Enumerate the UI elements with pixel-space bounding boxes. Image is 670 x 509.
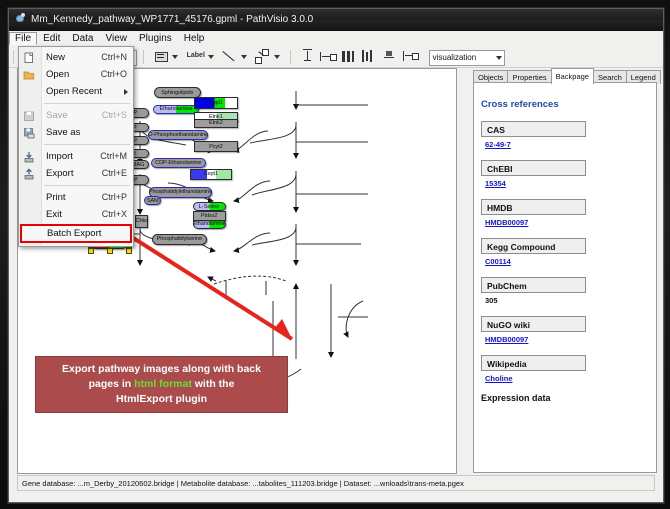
- file-menu-item-open[interactable]: OpenCtrl+O: [19, 66, 133, 83]
- align-left-tool-icon[interactable]: [320, 49, 335, 64]
- line-dropdown-icon[interactable]: [241, 55, 247, 59]
- chevron-down-icon: [496, 56, 502, 60]
- file-menu-item-label: New: [46, 52, 65, 63]
- xref-value-hmdb[interactable]: HMDB00097: [485, 218, 656, 227]
- xref-source-pubchem: PubChem: [481, 277, 586, 293]
- save-icon: [23, 110, 35, 122]
- status-bar: Gene database: ...m_Derby_20120602.bridg…: [17, 475, 655, 491]
- gene-label: Pcyt2: [209, 144, 223, 150]
- file-menu-item-shortcut: Ctrl+P: [102, 189, 127, 206]
- metabolite-node[interactable]: Ethanolamine: [153, 105, 199, 115]
- file-menu-dropdown[interactable]: NewCtrl+NOpenCtrl+OOpen RecentSaveCtrl+S…: [18, 46, 134, 247]
- folder-icon: [23, 69, 35, 81]
- new-file-icon: [23, 52, 35, 64]
- file-menu-item-label: Open Recent: [46, 86, 102, 97]
- backpage-panel: Cross references CAS62-49-7ChEBI15354HMD…: [473, 82, 657, 473]
- file-menu-item-label: Exit: [46, 209, 62, 220]
- metabolite-node[interactable]: CDP-Ethanolamine: [151, 158, 206, 168]
- import-icon: [23, 151, 35, 163]
- callout-line-3: HtmlExport plugin: [116, 393, 207, 405]
- file-menu-item-import[interactable]: ImportCtrl+M: [19, 148, 133, 165]
- menu-file[interactable]: File: [9, 32, 37, 45]
- metabolite-label: Phosphatidylserine: [157, 236, 202, 242]
- visualization-value: visualization: [433, 53, 477, 62]
- cross-reference-list: CAS62-49-7ChEBI15354HMDBHMDB00097Kegg Co…: [474, 121, 656, 383]
- xref-value-cas[interactable]: 62-49-7: [485, 140, 656, 149]
- panel-tab-bar: ObjectsPropertiesBackpageSearchLegend: [473, 68, 655, 83]
- file-menu-item-label: Batch Export: [47, 228, 101, 239]
- gene-label: Cept1: [204, 171, 218, 177]
- file-menu-item-label: Print: [46, 192, 66, 203]
- menu-view[interactable]: View: [99, 32, 133, 45]
- menu-plugins[interactable]: Plugins: [133, 32, 178, 45]
- menu-separator: [44, 144, 130, 145]
- tab-backpage[interactable]: Backpage: [551, 68, 594, 84]
- align-middle-tool-icon[interactable]: [361, 49, 376, 64]
- xref-source-cas: CAS: [481, 121, 586, 137]
- xref-source-chebi: ChEBI: [481, 160, 586, 176]
- pathvisio-window: Mm_Kennedy_pathway_WP1771_45176.gpml - P…: [8, 8, 664, 503]
- file-menu-item-label: Import: [46, 151, 73, 162]
- metabolite-label: Ethanolamine: [160, 106, 193, 112]
- gene-node[interactable]: Pcyt2: [194, 141, 238, 152]
- annotation-callout: Export pathway images along with back pa…: [35, 356, 288, 413]
- metabolite-label: CDP-Ethanolamine: [155, 160, 201, 166]
- menu-edit[interactable]: Edit: [37, 32, 66, 45]
- align-stack-tool-icon[interactable]: [382, 49, 397, 64]
- file-menu-item-shortcut: Ctrl+O: [101, 66, 127, 83]
- file-menu-item-label: Save as: [46, 127, 80, 138]
- gene-label: Sgpl1: [209, 100, 223, 106]
- metabolite-label: Sphingolipids: [161, 90, 193, 96]
- gene-node[interactable]: Cept1: [190, 169, 232, 180]
- metabolite-label: Phosphatidylethanolamine: [149, 189, 212, 195]
- xref-source-wikipedia: Wikipedia: [481, 355, 586, 371]
- cross-references-title: Cross references: [481, 99, 656, 110]
- metabolite-label: SAM: [147, 198, 159, 204]
- gene-product-tool-icon[interactable]: [153, 49, 168, 64]
- gene-node[interactable]: Etnk2: [194, 119, 238, 129]
- desktop-backdrop: Mm_Kennedy_pathway_WP1771_45176.gpml - P…: [0, 0, 670, 509]
- chevron-right-icon: [124, 89, 128, 95]
- gene-node[interactable]: Ptdss2: [193, 211, 226, 221]
- side-panel: ObjectsPropertiesBackpageSearchLegend Cr…: [465, 68, 655, 472]
- metabolite-node[interactable]: O-Phosphoethanolamine: [148, 130, 208, 140]
- line-tool-icon[interactable]: [222, 49, 237, 64]
- toolbar-separator: [143, 50, 144, 64]
- metabolite-label: O-Phosphoethanolamine: [148, 132, 208, 138]
- menu-help[interactable]: Help: [178, 32, 211, 45]
- file-menu-item-exit[interactable]: ExitCtrl+X: [19, 206, 133, 223]
- xref-value-nugo-wiki[interactable]: HMDB00097: [485, 335, 656, 344]
- gene-label: Ptdss2: [201, 213, 218, 219]
- xref-source-kegg-compound: Kegg Compound: [481, 238, 586, 254]
- file-menu-item-save: SaveCtrl+S: [19, 107, 133, 124]
- file-menu-item-label: Export: [46, 168, 73, 179]
- file-menu-item-save-as[interactable]: Save as: [19, 124, 133, 141]
- expression-data-title: Expression data: [481, 393, 656, 403]
- interaction-dropdown-icon[interactable]: [274, 55, 280, 59]
- gene-product-dropdown-icon[interactable]: [172, 55, 178, 59]
- callout-line-2a: pages in: [89, 378, 135, 390]
- window-title: Mm_Kennedy_pathway_WP1771_45176.gpml - P…: [31, 14, 313, 25]
- xref-source-nugo-wiki: NuGO wiki: [481, 316, 586, 332]
- metabolite-node[interactable]: Phosphatidylserine: [152, 234, 207, 244]
- align-top-tool-icon[interactable]: [300, 49, 315, 64]
- file-menu-item-shortcut: Ctrl+M: [100, 148, 127, 165]
- pathvisio-app-icon: [15, 13, 26, 24]
- gene-label: Etnk2: [209, 120, 223, 126]
- callout-highlight: html format: [134, 378, 192, 390]
- file-menu-item-export[interactable]: ExportCtrl+E: [19, 165, 133, 182]
- file-menu-item-label: Save: [46, 110, 68, 121]
- callout-line-2b: with the: [192, 378, 235, 390]
- xref-source-hmdb: HMDB: [481, 199, 586, 215]
- label-tool-button[interactable]: Label: [187, 52, 205, 59]
- gene-node[interactable]: Sgpl1: [194, 97, 238, 109]
- file-menu-item-print[interactable]: PrintCtrl+P: [19, 189, 133, 206]
- metabolite-node[interactable]: SAM: [144, 196, 161, 205]
- metabolite-label: Ethanolamine: [193, 221, 226, 227]
- align-center-tool-icon[interactable]: [341, 49, 356, 64]
- toolbar-separator: [290, 50, 291, 64]
- save-as-icon: [23, 127, 35, 139]
- title-bar: Mm_Kennedy_pathway_WP1771_45176.gpml - P…: [9, 9, 663, 31]
- align-right-tool-icon[interactable]: [402, 49, 417, 64]
- file-menu-item-new[interactable]: NewCtrl+N: [19, 49, 133, 66]
- label-dropdown-icon[interactable]: [208, 55, 214, 59]
- xref-value-chebi[interactable]: 15354: [485, 179, 656, 188]
- metabolite-label: L-Serine: [199, 204, 219, 210]
- file-menu-item-shortcut: Ctrl+E: [102, 165, 127, 182]
- menu-data[interactable]: Data: [66, 32, 99, 45]
- xref-value-wikipedia[interactable]: Choline: [485, 374, 656, 383]
- toolbar-separator: [13, 50, 14, 64]
- menu-separator: [44, 185, 130, 186]
- file-menu-item-open-recent[interactable]: Open Recent: [19, 83, 133, 100]
- menu-separator: [44, 103, 130, 104]
- interaction-tool-icon[interactable]: [255, 49, 270, 64]
- file-menu-item-label: Open: [46, 69, 69, 80]
- callout-line-1: Export pathway images along with back: [62, 363, 261, 375]
- xref-value-kegg-compound[interactable]: C00114: [485, 257, 656, 266]
- visualization-combobox[interactable]: visualization: [429, 50, 505, 66]
- file-menu-item-shortcut: Ctrl+X: [102, 206, 127, 223]
- file-menu-item-shortcut: Ctrl+S: [102, 107, 127, 124]
- gene-label: Chka: [136, 218, 149, 224]
- file-menu-item-batch-export[interactable]: Batch Export: [20, 224, 132, 243]
- export-icon: [23, 168, 35, 180]
- gene-node[interactable]: Chka: [135, 215, 148, 228]
- xref-value-pubchem: 305: [485, 296, 656, 305]
- file-menu-item-shortcut: Ctrl+N: [101, 49, 127, 66]
